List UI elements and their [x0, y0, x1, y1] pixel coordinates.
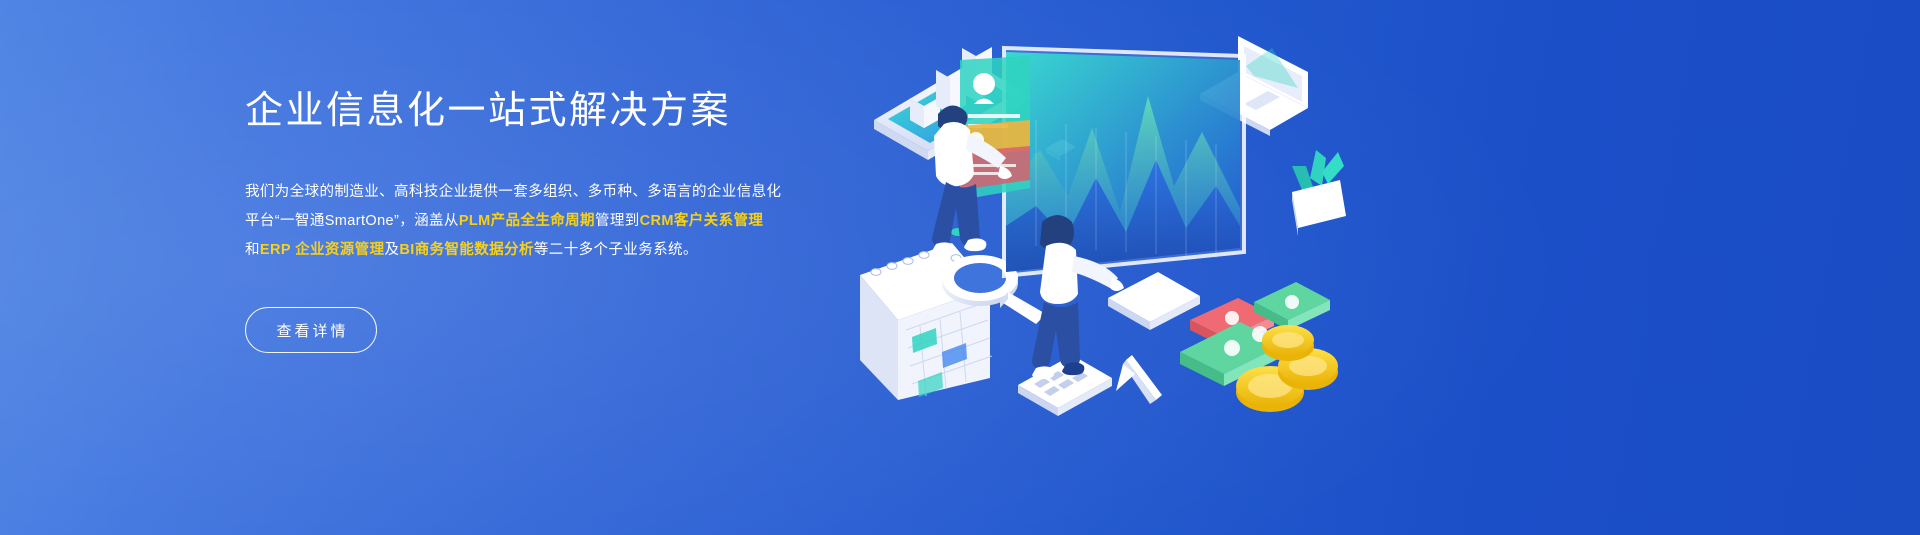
description-text: 我们为全球的制造业、高科技企业提供一套多组织、多币种、多语言的企业信息化 — [245, 184, 781, 200]
description-text: 平台“一智通SmartOne”，涵盖从 — [245, 213, 459, 229]
highlight-term: BI商务智能数据分析 — [399, 242, 534, 258]
description-line: 平台“一智通SmartOne”，涵盖从PLM产品全生命周期管理到CRM客户关系管… — [245, 207, 793, 236]
hero-description: 我们为全球的制造业、高科技企业提供一套多组织、多币种、多语言的企业信息化平台“一… — [245, 178, 793, 265]
highlight-term: CRM客户关系管理 — [640, 213, 764, 229]
description-line: 我们为全球的制造业、高科技企业提供一套多组织、多币种、多语言的企业信息化 — [245, 178, 793, 207]
description-text: 和 — [245, 242, 260, 258]
hero-copy: 企业信息化一站式解决方案 我们为全球的制造业、高科技企业提供一套多组织、多币种、… — [245, 86, 805, 353]
highlight-term: ERP 企业资源管理 — [260, 242, 385, 258]
hero-illustration — [840, 0, 1420, 535]
page-title: 企业信息化一站式解决方案 — [245, 86, 805, 136]
description-text: 及 — [385, 242, 400, 258]
view-details-button[interactable]: 查看详情 — [245, 307, 377, 353]
highlight-term: PLM产品全生命周期 — [459, 213, 595, 229]
potted-plant — [1292, 150, 1346, 236]
pen — [1116, 355, 1162, 404]
hero-banner: 企业信息化一站式解决方案 我们为全球的制造业、高科技企业提供一套多组织、多币种、… — [0, 0, 1920, 535]
description-text: 等二十多个子业务系统。 — [534, 242, 698, 258]
description-line: 和ERP 企业资源管理及BI商务智能数据分析等二十多个子业务系统。 — [245, 236, 793, 265]
description-text: 管理到 — [595, 213, 640, 229]
